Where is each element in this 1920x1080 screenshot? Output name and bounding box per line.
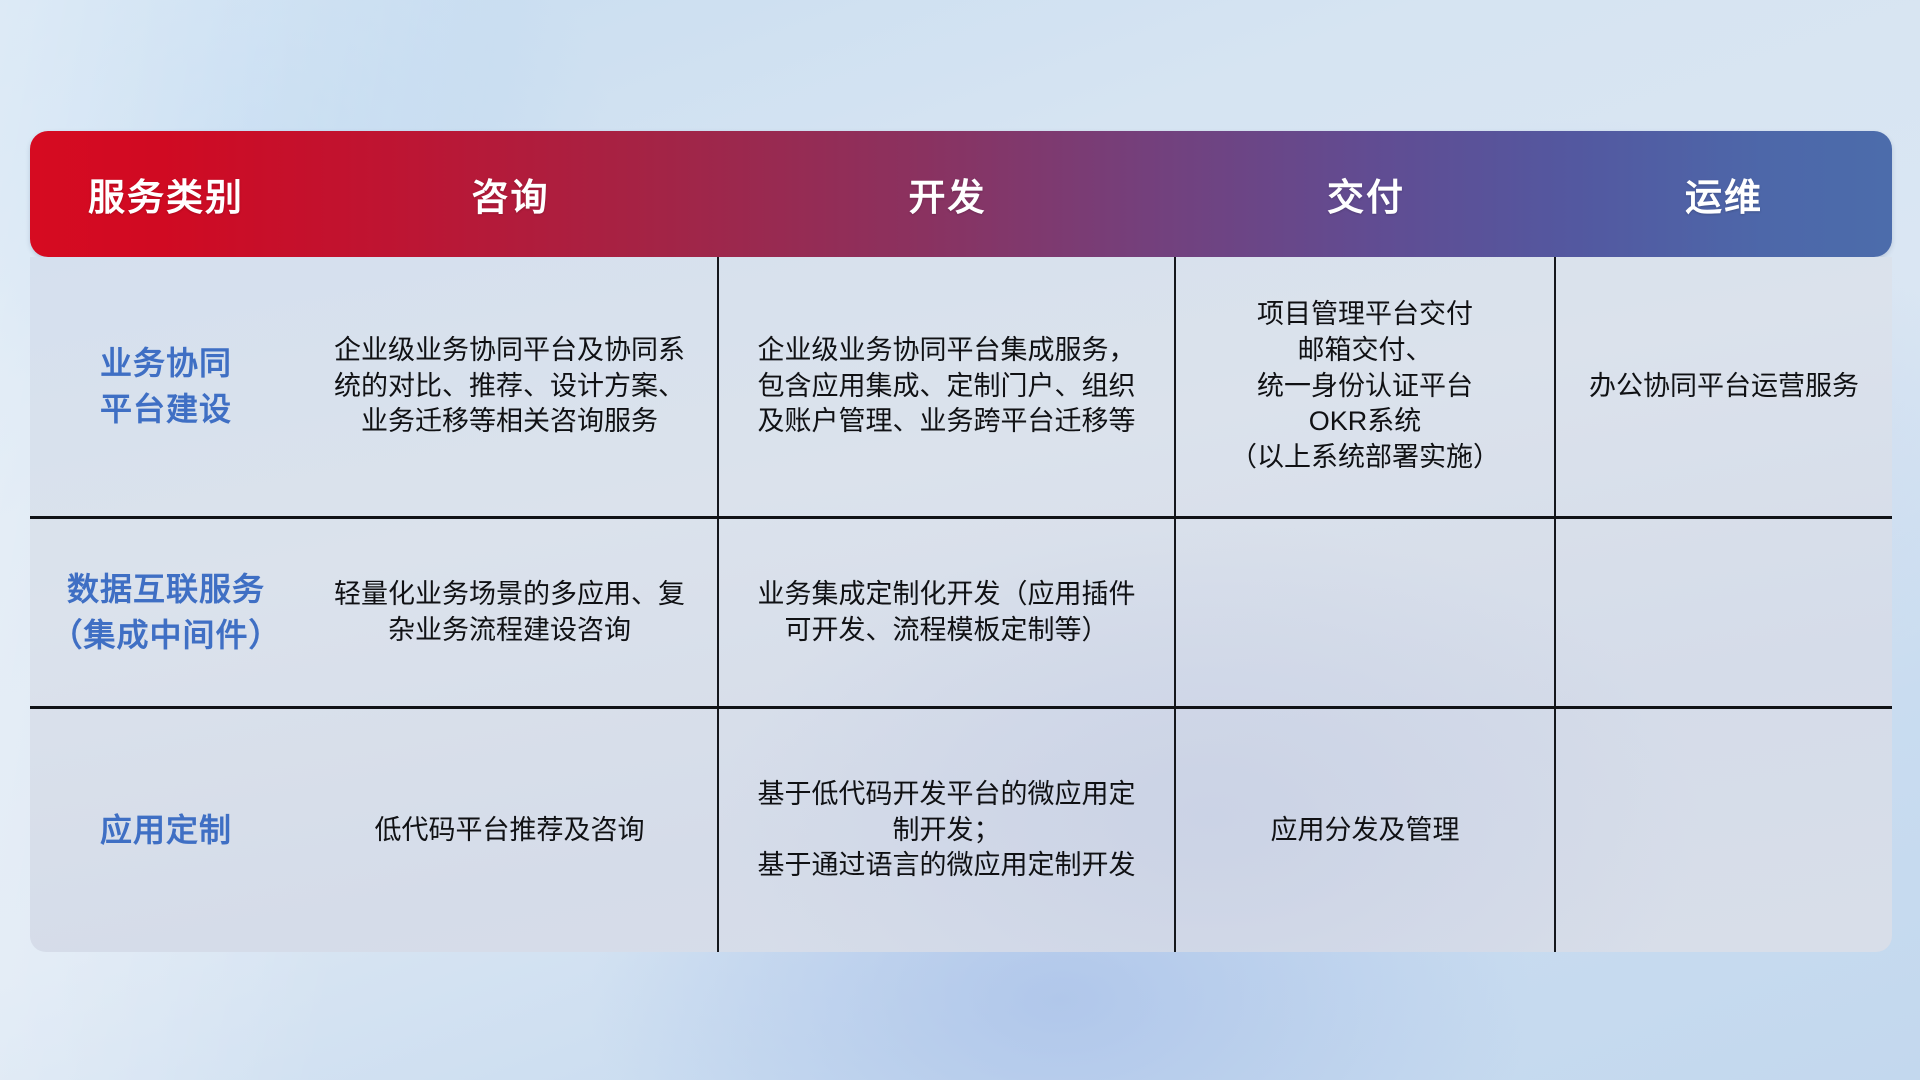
cell-consulting: 企业级业务协同平台及协同系 统的对比、推荐、设计方案、 业务迁移等相关咨询服务 bbox=[302, 257, 719, 516]
service-matrix-table: 服务类别 咨询 开发 交付 运维 业务协同 平台建设 企业级业务协同平台及协同系… bbox=[30, 131, 1892, 952]
cell-development: 基于低代码开发平台的微应用定 制开发； 基于通过语言的微应用定制开发 bbox=[719, 709, 1176, 952]
cell-category: 业务协同 平台建设 bbox=[30, 257, 302, 516]
table-header-row: 服务类别 咨询 开发 交付 运维 bbox=[30, 131, 1892, 257]
table-body: 业务协同 平台建设 企业级业务协同平台及协同系 统的对比、推荐、设计方案、 业务… bbox=[30, 257, 1892, 952]
column-header-operations: 运维 bbox=[1556, 131, 1892, 257]
cell-delivery: 项目管理平台交付 邮箱交付、 统一身份认证平台 OKR系统 （以上系统部署实施） bbox=[1176, 257, 1556, 516]
column-header-consulting: 咨询 bbox=[302, 131, 719, 257]
column-header-category: 服务类别 bbox=[30, 131, 302, 257]
cell-operations: 办公协同平台运营服务 bbox=[1556, 257, 1892, 516]
column-header-consulting-label: 咨询 bbox=[472, 167, 550, 221]
column-header-category-label: 服务类别 bbox=[88, 167, 244, 221]
column-header-delivery-label: 交付 bbox=[1327, 167, 1405, 221]
cell-development: 企业级业务协同平台集成服务， 包含应用集成、定制门户、组织 及账户管理、业务跨平… bbox=[719, 257, 1176, 516]
table-row: 业务协同 平台建设 企业级业务协同平台及协同系 统的对比、推荐、设计方案、 业务… bbox=[30, 257, 1892, 519]
cell-delivery: 应用分发及管理 bbox=[1176, 709, 1556, 952]
cell-operations bbox=[1556, 709, 1892, 952]
table-row: 数据互联服务 （集成中间件） 轻量化业务场景的多应用、复 杂业务流程建设咨询 业… bbox=[30, 519, 1892, 709]
cell-consulting: 低代码平台推荐及咨询 bbox=[302, 709, 719, 952]
cell-category: 应用定制 bbox=[30, 709, 302, 952]
cell-category: 数据互联服务 （集成中间件） bbox=[30, 519, 302, 706]
cell-development: 业务集成定制化开发（应用插件 可开发、流程模板定制等） bbox=[719, 519, 1176, 706]
table-row: 应用定制 低代码平台推荐及咨询 基于低代码开发平台的微应用定 制开发； 基于通过… bbox=[30, 709, 1892, 952]
column-header-delivery: 交付 bbox=[1176, 131, 1556, 257]
cell-delivery bbox=[1176, 519, 1556, 706]
column-header-operations-label: 运维 bbox=[1685, 167, 1763, 221]
cell-operations bbox=[1556, 519, 1892, 706]
column-header-development: 开发 bbox=[719, 131, 1176, 257]
column-header-development-label: 开发 bbox=[909, 167, 987, 221]
cell-consulting: 轻量化业务场景的多应用、复 杂业务流程建设咨询 bbox=[302, 519, 719, 706]
